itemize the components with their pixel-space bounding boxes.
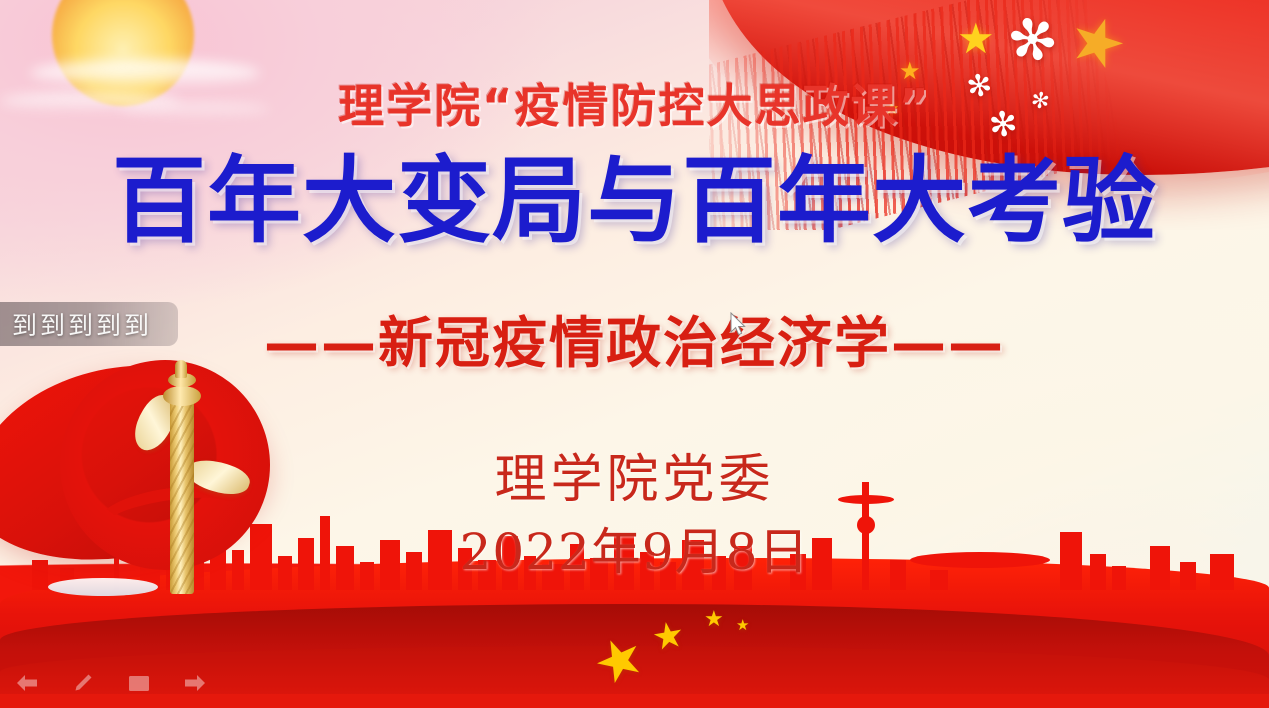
mouse-cursor bbox=[730, 312, 748, 338]
presentation-slide: ★ ★ ★ ★ ✻ ✻ ✻ ✻ bbox=[0, 0, 1269, 708]
ground-star-2: ★ bbox=[649, 615, 687, 656]
wave-band-5 bbox=[0, 694, 1269, 708]
slide-eyebrow: 理学院“疫情防控大思政课” bbox=[0, 70, 1269, 136]
page-title: 百年大变局与百年大考验 bbox=[0, 152, 1269, 252]
slide-subtitle: ——新冠疫情政治经济学—— bbox=[0, 298, 1269, 378]
slides-grid-icon[interactable] bbox=[126, 672, 152, 694]
huabiao-cap bbox=[163, 386, 201, 406]
prev-slide-arrow-icon[interactable] bbox=[14, 672, 40, 694]
ground-star-4: ★ bbox=[736, 618, 749, 633]
slide-organization: 理学院党委 bbox=[0, 437, 1269, 512]
chat-message-text: 到到到到到 bbox=[12, 306, 152, 342]
chat-message-overlay[interactable]: 到到到到到 bbox=[0, 302, 178, 346]
pen-icon[interactable] bbox=[70, 672, 96, 694]
next-slide-arrow-icon[interactable] bbox=[182, 672, 208, 694]
flag-star-1: ★ bbox=[957, 18, 995, 60]
presentation-toolbar[interactable] bbox=[14, 672, 208, 694]
slide-date: 2022年9月8日 bbox=[0, 512, 1269, 584]
ground-star-3: ★ bbox=[704, 608, 724, 630]
